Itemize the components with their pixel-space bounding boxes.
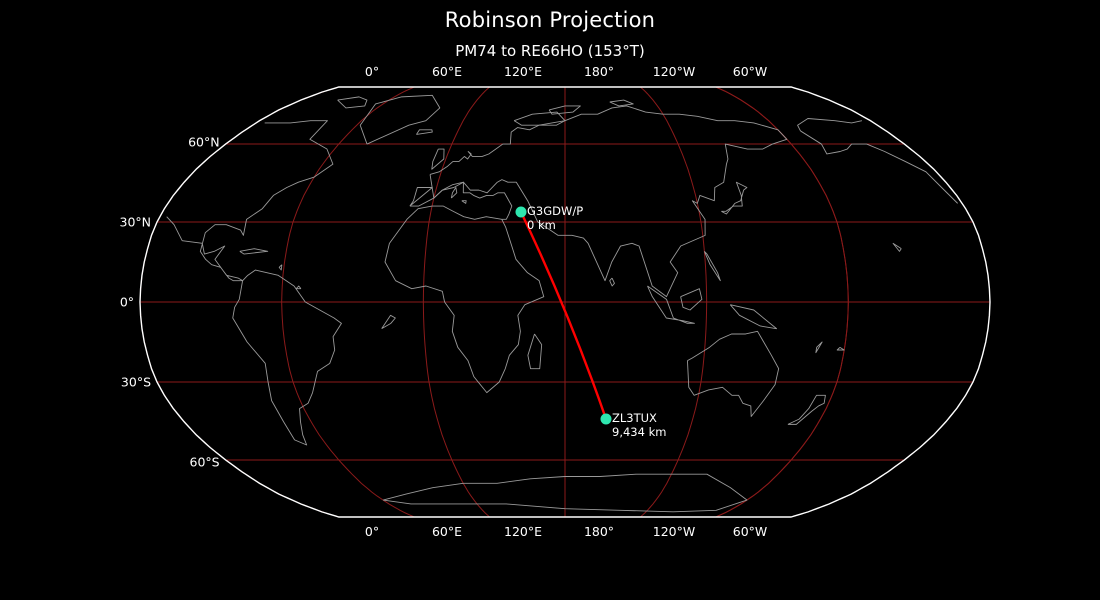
coastline <box>296 286 301 289</box>
lon-tick-label-top: 60°W <box>733 64 768 79</box>
point-distance: 0 km <box>527 218 583 232</box>
lon-tick-label-top: 0° <box>365 64 379 79</box>
coastline <box>893 243 901 251</box>
lon-tick-label-bottom: 180° <box>584 524 614 539</box>
coastline <box>704 251 720 280</box>
coastline <box>610 100 633 106</box>
coastline <box>730 305 776 329</box>
map-graticule-group <box>140 87 990 517</box>
point-distance: 9,434 km <box>612 425 666 439</box>
coastline <box>528 334 542 369</box>
coastline <box>432 149 444 169</box>
coastline <box>462 201 466 204</box>
map-figure: Robinson Projection PM74 to RE66HO (153°… <box>0 0 1100 600</box>
lon-tick-label-bottom: 120°W <box>653 524 695 539</box>
coastline <box>360 95 440 144</box>
coastline <box>610 278 615 286</box>
lon-tick-label-top: 120°E <box>504 64 542 79</box>
lat-tick-label: 60°S <box>190 455 220 470</box>
robinson-map-canvas <box>0 0 1100 600</box>
coastline <box>382 315 396 328</box>
endpoint-marker-start[interactable] <box>516 207 527 218</box>
coastline <box>721 182 747 214</box>
coastline <box>410 188 432 207</box>
lon-tick-label-bottom: 60°W <box>733 524 768 539</box>
coastline <box>798 118 862 130</box>
point-callsign: G3GDW/P <box>527 204 583 218</box>
coastline <box>279 265 282 270</box>
lat-tick-label: 30°N <box>120 215 152 230</box>
coastline <box>416 130 432 135</box>
coastline <box>816 342 822 353</box>
point-callsign: ZL3TUX <box>612 411 666 425</box>
lat-tick-label: 30°S <box>121 375 151 390</box>
coastline <box>338 97 367 108</box>
great-circle-path <box>521 212 606 419</box>
point-label-end: ZL3TUX9,434 km <box>612 411 666 440</box>
coastline <box>687 331 778 416</box>
endpoint-marker-end[interactable] <box>601 414 612 425</box>
point-label-start: G3GDW/P0 km <box>527 204 583 233</box>
lat-tick-label: 0° <box>120 295 134 310</box>
coastline <box>837 347 844 350</box>
lon-tick-label-bottom: 0° <box>365 524 379 539</box>
lon-tick-label-bottom: 120°E <box>504 524 542 539</box>
lon-tick-label-bottom: 60°E <box>432 524 462 539</box>
lon-tick-label-top: 120°W <box>653 64 695 79</box>
coastline <box>240 249 268 254</box>
great-circle-line <box>521 212 606 419</box>
coastline <box>430 106 787 297</box>
coastline <box>647 286 694 323</box>
lon-tick-label-top: 60°E <box>432 64 462 79</box>
lat-tick-label: 60°N <box>188 135 220 150</box>
lon-tick-label-top: 180° <box>584 64 614 79</box>
coastline <box>451 188 456 199</box>
coastline <box>681 289 702 310</box>
